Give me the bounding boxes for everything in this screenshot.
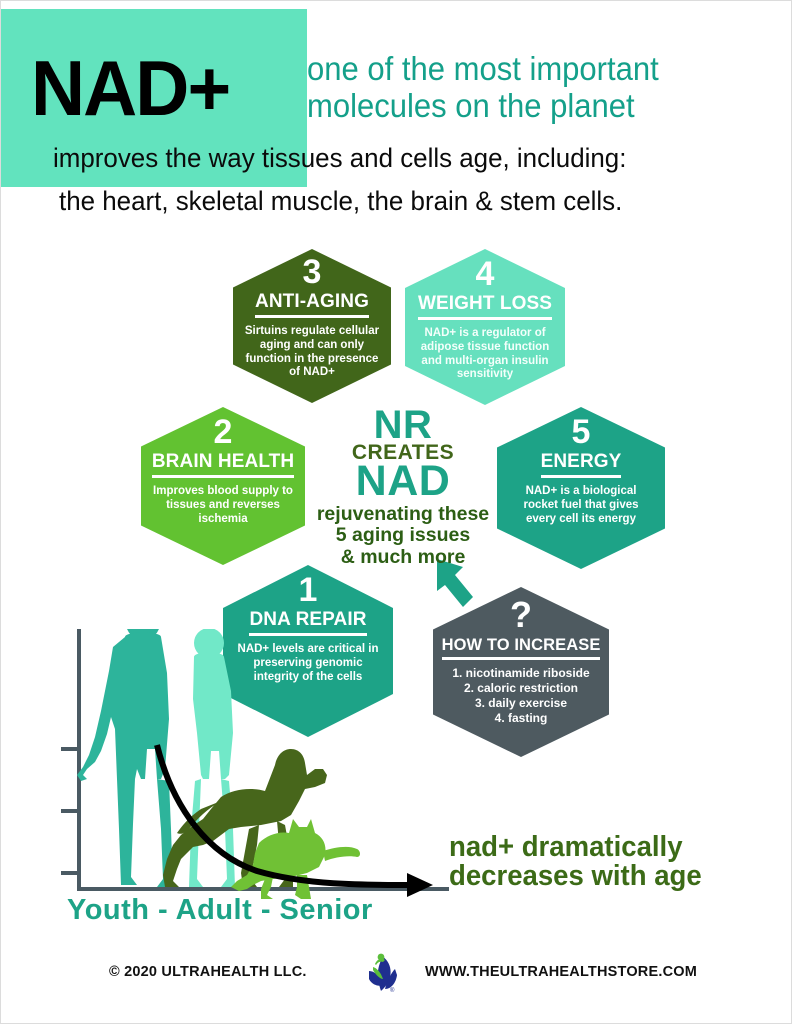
how-to-item-2: 2. caloric restriction (452, 681, 589, 696)
chart-x-axis-label: Youth - Adult - Senior (67, 894, 373, 927)
hexagon-weight-loss[interactable]: 4 WEIGHT LOSS NAD+ is a regulator of adi… (405, 249, 565, 405)
hexagon-body: NAD+ is a biological rocket fuel that gi… (497, 485, 665, 526)
how-to-item-3: 3. daily exercise (452, 696, 589, 711)
hexagon-number: 4 (476, 257, 495, 291)
decline-arrowhead (407, 873, 433, 897)
hexagon-energy[interactable]: 5 ENERGY NAD+ is a biological rocket fue… (497, 407, 665, 569)
hexagon-body: 1. nicotinamide riboside 2. caloric rest… (442, 666, 599, 726)
hexagon-body: Improves blood supply to tissues and rev… (141, 485, 305, 526)
hexagon-title: WEIGHT LOSS (418, 294, 552, 320)
hexagon-number: 1 (299, 573, 318, 607)
hexagon-body: NAD+ is a regulator of adipose tissue fu… (405, 327, 565, 382)
header-tagline: one of the most important molecules on t… (307, 51, 753, 125)
hexagon-brain-health[interactable]: 2 BRAIN HEALTH Improves blood supply to … (141, 407, 305, 565)
ultrahealth-leaf-logo-icon: ® (359, 951, 407, 995)
center-nr-label: NR (301, 407, 505, 444)
chart-annotation: nad+ dramatically decreases with age (449, 833, 753, 891)
hexagon-title: ANTI-AGING (255, 292, 369, 318)
center-message: NR CREATES NAD rejuvenating these 5 agin… (301, 407, 505, 568)
hexagon-title: HOW TO INCREASE (442, 637, 601, 660)
hexagon-anti-aging[interactable]: 3 ANTI-AGING Sirtuins regulate cellular … (233, 249, 391, 403)
how-to-item-1: 1. nicotinamide riboside (452, 666, 589, 681)
hexagon-title: BRAIN HEALTH (152, 452, 294, 478)
chart-annotation-line-1: nad+ dramatically (449, 833, 753, 862)
footer-website-url: WWW.THEULTRAHEALTHSTORE.COM (425, 964, 697, 980)
hexagon-body: Sirtuins regulate cellular aging and can… (233, 325, 391, 380)
hexagon-number: 5 (572, 415, 591, 449)
infographic-page: NAD+ one of the most important molecules… (0, 0, 792, 1024)
hexagon-title: ENERGY (541, 452, 622, 478)
center-subtitle-line-1: rejuvenating these (301, 504, 505, 525)
hexagon-number: 2 (214, 415, 233, 449)
center-subtitle-line-2: 5 aging issues (301, 525, 505, 546)
center-subtitle-line-3: & much more (301, 547, 505, 568)
header-subline-1: improves the way tissues and cells age, … (53, 143, 744, 174)
header-subline-2: the heart, skeletal muscle, the brain & … (59, 186, 750, 217)
center-subtitle: rejuvenating these 5 aging issues & much… (301, 504, 505, 568)
svg-text:®: ® (390, 987, 395, 994)
how-to-item-4: 4. fasting (452, 711, 589, 726)
hexagon-number: 3 (303, 255, 322, 289)
chart-illustration (61, 629, 461, 901)
center-nad-label: NAD (301, 461, 505, 502)
footer-copyright: © 2020 ULTRAHEALTH LLC. (109, 964, 307, 980)
nad-decline-chart (61, 629, 461, 901)
chart-annotation-line-2: decreases with age (449, 862, 753, 891)
question-mark-icon: ? (510, 597, 532, 633)
page-title: NAD+ (31, 49, 229, 127)
